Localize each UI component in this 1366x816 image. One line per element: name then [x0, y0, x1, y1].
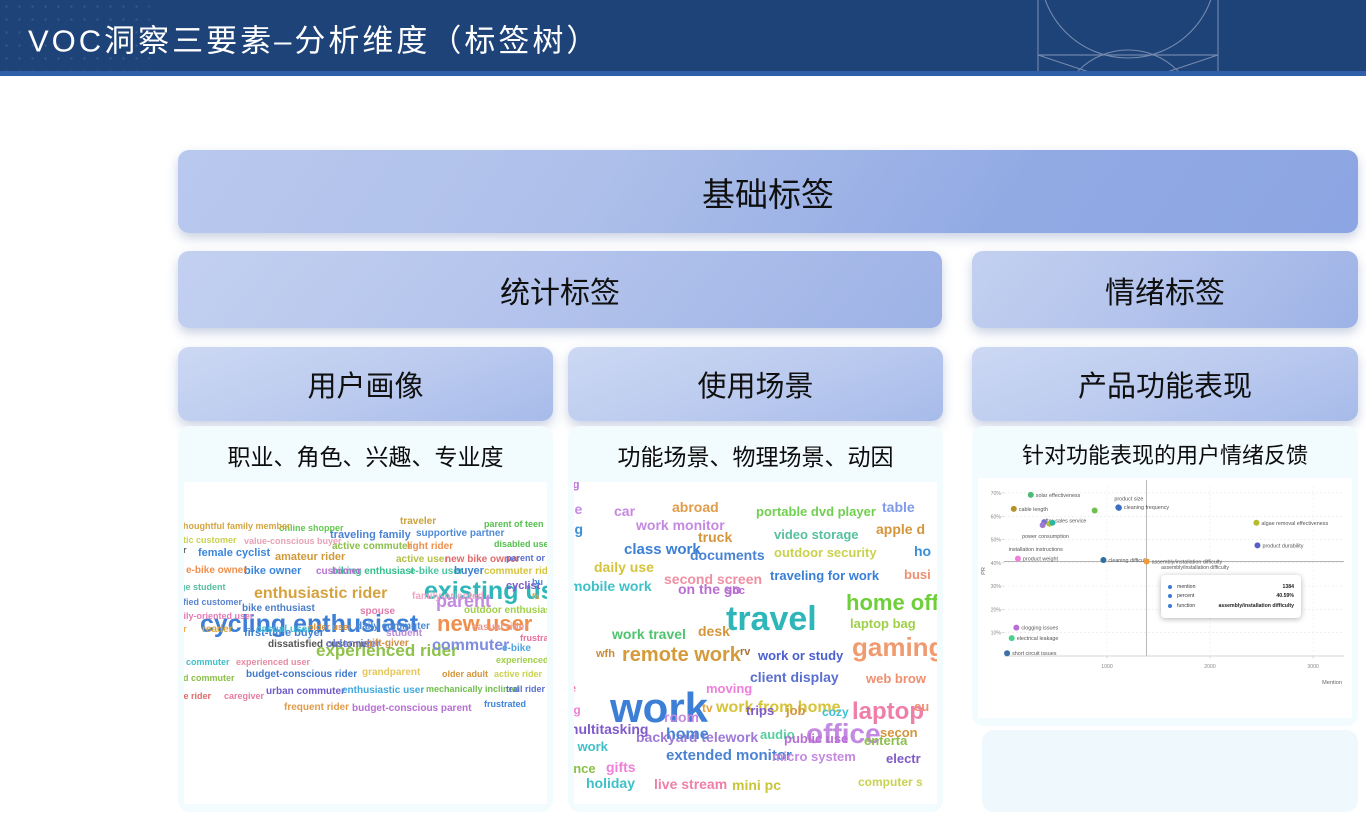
scatter-point[interactable]	[1004, 650, 1010, 656]
wordcloud-word[interactable]: gaming	[852, 634, 937, 660]
header-geometric-decoration	[998, 0, 1298, 76]
wordcloud-word[interactable]: frustra	[520, 634, 547, 643]
wordcloud-word[interactable]: ar	[184, 546, 187, 555]
scatter-point[interactable]	[1049, 520, 1055, 526]
scatter-point-label: algae removal effectiveness	[1261, 521, 1328, 527]
wordcloud-word[interactable]: live stream	[654, 777, 727, 791]
wordcloud-word[interactable]: traveler	[400, 517, 436, 527]
wordcloud-word[interactable]: web brow	[866, 672, 926, 685]
tooltip-key: function	[1177, 603, 1195, 609]
y-tick-label: 70%	[991, 491, 1002, 497]
wordcloud-word[interactable]: ng	[574, 522, 583, 536]
y-tick-label: 40%	[991, 561, 1002, 567]
wordcloud-word[interactable]: room	[664, 710, 699, 724]
scatter-point[interactable]	[1040, 522, 1046, 528]
panel-product-function-footer	[982, 730, 1358, 812]
scatter-point[interactable]	[1013, 625, 1019, 631]
wordcloud-word[interactable]: table	[882, 500, 915, 514]
wordcloud-word[interactable]: ance	[574, 762, 596, 775]
wordcloud-word[interactable]: older user	[308, 623, 352, 632]
wordcloud-word[interactable]: gifts	[606, 760, 636, 774]
scatter-point-label: solar effectiveness	[1036, 493, 1081, 499]
wordcloud-word[interactable]: cu	[914, 700, 929, 713]
wordcloud-word[interactable]: commuter rider	[484, 567, 547, 577]
wordcloud-word[interactable]: active rider	[494, 670, 542, 679]
wordcloud-user-portrait[interactable]: cycling enthusiastexisting usernew usere…	[184, 482, 547, 804]
wordcloud-word[interactable]: parent or	[506, 554, 545, 563]
wordcloud-word[interactable]: sbc	[726, 586, 745, 597]
wordcloud-word[interactable]: tv	[702, 702, 713, 714]
wordcloud-word[interactable]: traveling family	[330, 530, 411, 541]
scatter-point[interactable]	[1009, 635, 1015, 641]
subtitle-product-function: 针对功能表现的用户情绪反馈	[972, 438, 1358, 470]
wordcloud-word[interactable]: bike owner	[244, 566, 301, 577]
wordcloud-word[interactable]: ng	[574, 704, 581, 716]
wordcloud-word[interactable]: experienced	[496, 656, 547, 665]
wordcloud-word[interactable]: ed commuter	[184, 674, 235, 683]
tag-tree-canvas: 基础标签 统计标签 情绪标签 用户画像 使用场景 产品功能表现 职业、角色、兴趣…	[0, 76, 1366, 816]
wordcloud-word[interactable]: sfied customer	[184, 598, 242, 607]
page-title: VOC洞察三要素–分析维度（标签树）	[28, 16, 600, 61]
wordcloud-word[interactable]: older adult	[442, 670, 488, 679]
wordcloud-usage-scene[interactable]: worktravelofficegaminglaptophome offremo…	[574, 482, 937, 804]
wordcloud-word[interactable]: laptop bag	[850, 617, 916, 630]
scatter-point[interactable]	[1254, 542, 1260, 548]
wordcloud-word[interactable]: ho	[914, 544, 931, 558]
wordcloud-word[interactable]: parent of teen	[484, 520, 544, 529]
wordcloud-word[interactable]: wfh	[596, 649, 615, 660]
wordcloud-word[interactable]: documents	[690, 548, 765, 562]
wordcloud-word[interactable]: customer	[316, 567, 361, 577]
wordcloud-word[interactable]: computer s	[858, 776, 923, 788]
subtitle-usage-scene: 功能场景、物理场景、动因	[568, 438, 943, 472]
wordcloud-word[interactable]: cozy	[822, 706, 849, 718]
scatter-point-label: short circuit issues	[1012, 651, 1057, 657]
tooltip-title: assembly/installation difficulty	[1161, 565, 1229, 571]
scatter-point-label: product weight	[1023, 557, 1059, 563]
wordcloud-word[interactable]: amateur rider	[275, 552, 345, 563]
wordcloud-word[interactable]: spouse	[360, 607, 395, 617]
wordcloud-word[interactable]: work travel	[612, 627, 686, 641]
y-tick-label: 50%	[991, 538, 1002, 544]
wordcloud-word[interactable]: supportive partner	[416, 529, 504, 539]
wordcloud-word[interactable]: class work	[624, 542, 701, 557]
wordcloud-word[interactable]: budget-conscious rider	[246, 670, 357, 680]
scatter-point-label: cleaning frequency	[1124, 505, 1170, 511]
scatter-point-label: installation instructions	[1009, 547, 1064, 553]
y-tick-label: 10%	[991, 631, 1002, 637]
wordcloud-word[interactable]: work or study	[758, 649, 843, 662]
scatter-point[interactable]	[1011, 506, 1017, 512]
wordcloud-word[interactable]: rv	[740, 647, 750, 658]
node-user-portrait[interactable]: 用户画像	[178, 347, 553, 421]
wordcloud-word[interactable]: nily-oriented user	[184, 612, 254, 621]
wordcloud-word[interactable]: outdoor enthusiast	[464, 606, 547, 616]
wordcloud-word[interactable]: active user	[396, 555, 448, 565]
node-basic-tag[interactable]: 基础标签	[178, 150, 1358, 233]
wordcloud-word[interactable]: public use	[784, 732, 848, 745]
wordcloud-word[interactable]: light rider	[407, 542, 453, 552]
wordcloud-word[interactable]: family-oriented	[412, 592, 484, 602]
wordcloud-word[interactable]: stic customer	[184, 536, 237, 545]
wordcloud-word[interactable]: le	[574, 682, 576, 694]
scatter-point[interactable]	[1100, 557, 1106, 563]
wordcloud-word[interactable]: electr	[886, 752, 921, 765]
wordcloud-word[interactable]: trips	[746, 704, 774, 717]
wordcloud-word[interactable]: casual rider	[472, 623, 528, 633]
scatter-point-label: clogging issues	[1021, 626, 1058, 632]
tooltip-value: 1384	[1282, 584, 1294, 590]
wordcloud-word[interactable]: e-bike owner	[186, 566, 247, 576]
wordcloud-word[interactable]: experienced user	[236, 658, 310, 667]
y-tick-label: 30%	[991, 584, 1002, 590]
wordcloud-word[interactable]: urban commuter	[266, 687, 345, 697]
node-usage-scene[interactable]: 使用场景	[568, 347, 943, 421]
wordcloud-word[interactable]: ge	[574, 502, 582, 516]
scatter-point-label: cleaning difficulty	[1108, 558, 1149, 564]
y-tick-label: 20%	[991, 607, 1002, 613]
wordcloud-word[interactable]: enthusiastic user	[342, 686, 424, 696]
wordcloud-word[interactable]: frequent rider	[284, 703, 349, 713]
x-tick-label: 2000	[1204, 664, 1216, 670]
chart-tooltip: assembly/installation difficulty mention…	[1161, 575, 1301, 618]
node-statistic-tag[interactable]: 统计标签	[178, 251, 942, 328]
scatter-point-label: electrical leakage	[1017, 636, 1059, 642]
wordcloud-word[interactable]: value-conscious buyer	[244, 537, 342, 546]
scatter-point[interactable]	[1253, 520, 1259, 526]
tooltip-row-function: function assembly/installation difficult…	[1168, 603, 1294, 609]
wordcloud-word[interactable]: gift-giver	[366, 639, 409, 649]
wordcloud-word[interactable]: daily use	[594, 560, 654, 574]
wordcloud-word[interactable]: casual user	[256, 625, 311, 635]
wordcloud-word[interactable]: grandparent	[362, 668, 420, 678]
wordcloud-word[interactable]: caregiver	[224, 692, 264, 701]
wordcloud-word[interactable]: bu	[532, 578, 543, 587]
wordcloud-word[interactable]: trail rider	[506, 685, 545, 694]
node-emotion-tag[interactable]: 情绪标签	[972, 251, 1358, 328]
x-axis-title: Mention	[1322, 680, 1342, 686]
tooltip-row-mention: mention 1384	[1168, 584, 1294, 590]
wordcloud-word[interactable]: car	[614, 504, 635, 518]
wordcloud-word[interactable]: reader	[202, 625, 233, 635]
wordcloud-word[interactable]: mobile work	[574, 579, 652, 593]
wordcloud-word[interactable]: ge student	[184, 583, 226, 592]
scatter-point-label: product durability	[1262, 543, 1303, 549]
page-header: VOC洞察三要素–分析维度（标签树）	[0, 0, 1366, 76]
scatter-point[interactable]	[1015, 556, 1021, 562]
tooltip-key: percent	[1177, 593, 1194, 599]
wordcloud-word[interactable]: thoughtful family member	[184, 522, 291, 531]
panel-user-portrait: 职业、角色、兴趣、专业度 cycling enthusiastexisting …	[178, 426, 553, 812]
wordcloud-word[interactable]: holiday	[586, 776, 635, 790]
wordcloud-word[interactable]: busi	[904, 568, 931, 581]
tooltip-dot-icon	[1168, 604, 1172, 608]
scatter-point[interactable]	[1116, 505, 1122, 511]
wordcloud-word[interactable]: truck	[698, 530, 732, 544]
scatter-point[interactable]	[1028, 492, 1034, 498]
wordcloud-word[interactable]: active commuter	[332, 542, 411, 552]
wordcloud-word[interactable]: desk	[698, 624, 730, 638]
scatter-point[interactable]	[1092, 507, 1098, 513]
wordcloud-word[interactable]: video storage	[774, 528, 859, 541]
wordcloud-word[interactable]: outdoor security	[774, 546, 877, 559]
y-axis-title: PR	[981, 567, 987, 575]
subtitle-user-portrait: 职业、角色、兴趣、专业度	[178, 438, 553, 472]
wordcloud-word[interactable]: female cyclist	[198, 548, 270, 559]
tooltip-key: mention	[1177, 584, 1195, 590]
wordcloud-word[interactable]: client display	[750, 670, 839, 684]
wordcloud-word[interactable]: moving	[706, 682, 752, 695]
x-tick-label: 1000	[1101, 664, 1113, 670]
wordcloud-word[interactable]: ng	[574, 482, 579, 491]
scatter-point-label: cable length	[1019, 507, 1048, 513]
tooltip-dot-icon	[1168, 585, 1172, 589]
wordcloud-word[interactable]: home off	[846, 592, 937, 614]
wordcloud-word[interactable]: enterta	[864, 734, 907, 747]
wordcloud-word[interactable]: buyer	[454, 566, 484, 577]
y-tick-label: 60%	[991, 514, 1002, 520]
tooltip-value: assembly/installation difficulty	[1218, 603, 1294, 609]
wordcloud-word[interactable]: job	[786, 704, 806, 717]
wordcloud-word[interactable]: multitasking	[574, 722, 648, 736]
wordcloud-word[interactable]: ne rider	[184, 692, 211, 701]
wordcloud-word[interactable]: frustrated	[484, 700, 526, 709]
wordcloud-word[interactable]: e-bike	[502, 644, 531, 654]
wordcloud-word[interactable]: fa	[532, 593, 539, 601]
scatter-point[interactable]	[1144, 558, 1150, 564]
tooltip-value: 40.59%	[1276, 593, 1294, 599]
x-tick-label: 3000	[1307, 664, 1319, 670]
wordcloud-word[interactable]: er	[184, 625, 187, 634]
scatter-chart-product-function[interactable]: 10%20%30%40%50%60%70%100020003000solar e…	[978, 478, 1352, 718]
wordcloud-word[interactable]: n work	[574, 740, 608, 753]
tooltip-dot-icon	[1168, 594, 1172, 598]
wordcloud-word[interactable]: portable dvd player	[756, 505, 876, 518]
scatter-point-label: product size	[1114, 496, 1143, 502]
panel-usage-scene: 功能场景、物理场景、动因 worktravelofficegaminglapto…	[568, 426, 943, 812]
wordcloud-word[interactable]: budget-conscious parent	[352, 704, 471, 714]
scatter-point-label: power consumption	[1022, 534, 1069, 540]
panel-product-function: 针对功能表现的用户情绪反馈 10%20%30%40%50%60%70%10002…	[972, 426, 1358, 726]
wordcloud-word[interactable]: disabled user	[494, 540, 547, 549]
wordcloud-word[interactable]: remote work	[622, 645, 741, 665]
wordcloud-word[interactable]: g commuter	[184, 658, 230, 667]
node-product-function[interactable]: 产品功能表现	[972, 347, 1358, 421]
wordcloud-word[interactable]: mini pc	[732, 778, 781, 792]
wordcloud-word[interactable]: commuter	[432, 638, 509, 654]
wordcloud-word[interactable]: apple d	[876, 522, 925, 536]
wordcloud-word[interactable]: abroad	[672, 500, 719, 514]
wordcloud-word[interactable]: travel	[726, 602, 817, 636]
wordcloud-word[interactable]: home	[666, 727, 709, 743]
tooltip-row-percent: percent 40.59%	[1168, 593, 1294, 599]
wordcloud-word[interactable]: enthusiastic rider	[254, 586, 387, 602]
wordcloud-word[interactable]: traveling for work	[770, 569, 879, 582]
wordcloud-word[interactable]: micro system	[772, 750, 856, 763]
